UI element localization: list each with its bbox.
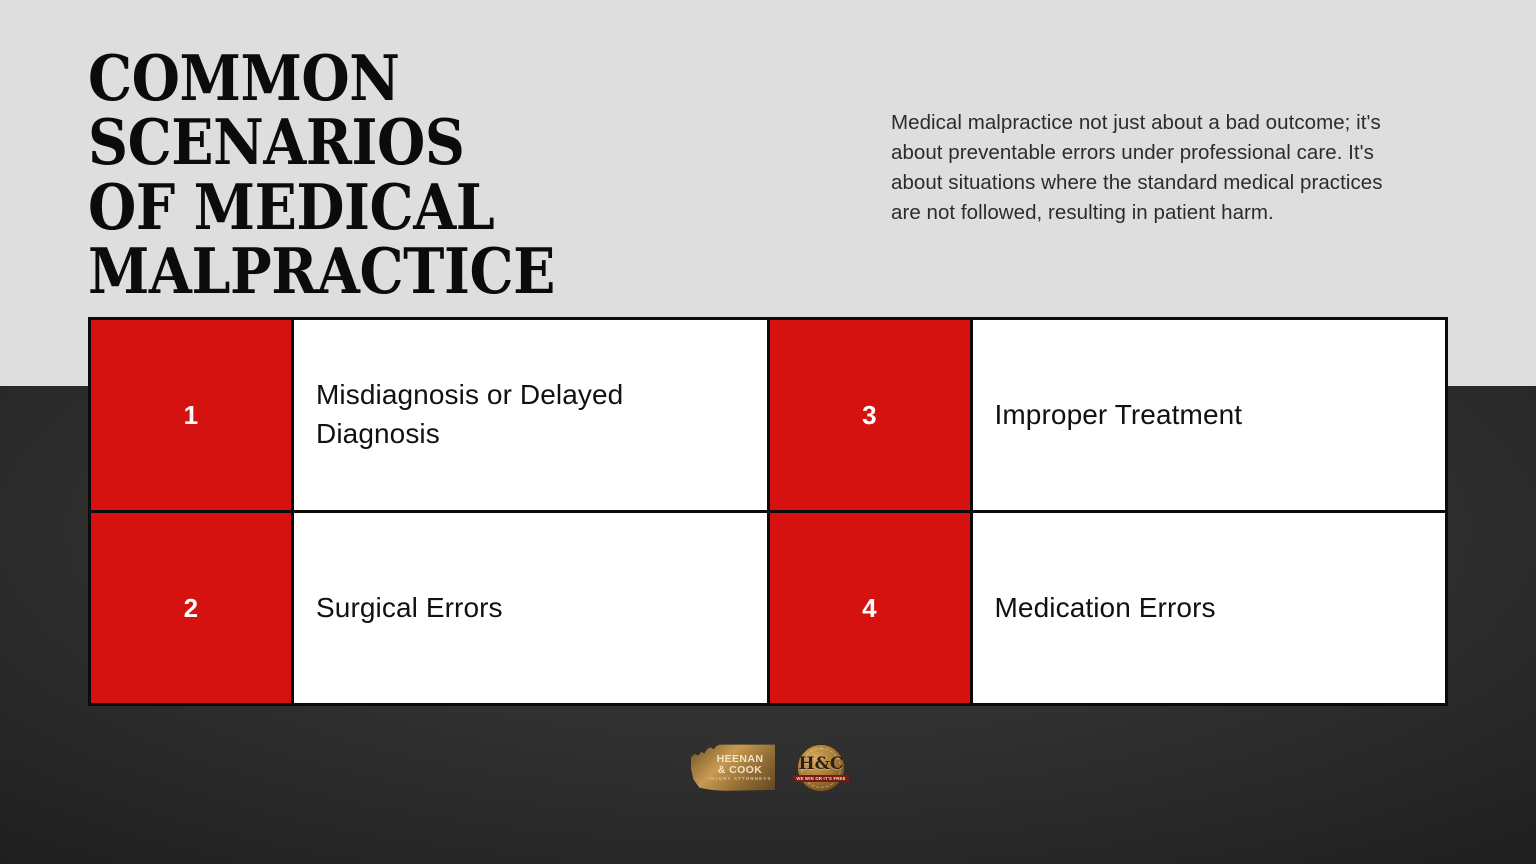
scenarios-table: 1 Misdiagnosis or Delayed Diagnosis 3 Im… [88, 317, 1448, 706]
montana-logo-line3: INJURY ATTORNEYS [708, 777, 771, 782]
scenario-number-3: 3 [770, 320, 970, 510]
scenario-cell-4: 4 Medication Errors [770, 513, 1446, 703]
scenario-label-3: Improper Treatment [973, 320, 1446, 510]
badge-monogram: H&C [799, 756, 844, 773]
scenario-label-4: Medication Errors [973, 513, 1446, 703]
scenario-cell-2: 2 Surgical Errors [91, 513, 767, 703]
scenario-number-1: 1 [91, 320, 291, 510]
scenario-cell-1: 1 Misdiagnosis or Delayed Diagnosis [91, 320, 767, 510]
scenario-label-1: Misdiagnosis or Delayed Diagnosis [294, 320, 767, 510]
montana-logo-line2: & COOK [708, 765, 771, 776]
scenario-cell-3: 3 Improper Treatment [770, 320, 1446, 510]
montana-logo-text: HEENAN & COOK INJURY ATTORNEYS [708, 754, 771, 781]
heenan-cook-montana-logo: HEENAN & COOK INJURY ATTORNEYS [691, 742, 775, 794]
slide-root: COMMON SCENARIOS OF MEDICAL MALPRACTICE … [0, 0, 1536, 864]
badge-tagline: WE WIN OR IT'S FREE [793, 775, 848, 782]
intro-paragraph: Medical malpractice not just about a bad… [891, 108, 1411, 229]
page-title: COMMON SCENARIOS OF MEDICAL MALPRACTICE [88, 46, 783, 303]
scenario-number-2: 2 [91, 513, 291, 703]
scenario-label-2: Surgical Errors [294, 513, 767, 703]
scenario-number-4: 4 [770, 513, 970, 703]
hc-seal-badge-icon: H&C WE WIN OR IT'S FREE [797, 744, 845, 792]
footer-logos: HEENAN & COOK INJURY ATTORNEYS H&C WE WI… [0, 742, 1536, 794]
